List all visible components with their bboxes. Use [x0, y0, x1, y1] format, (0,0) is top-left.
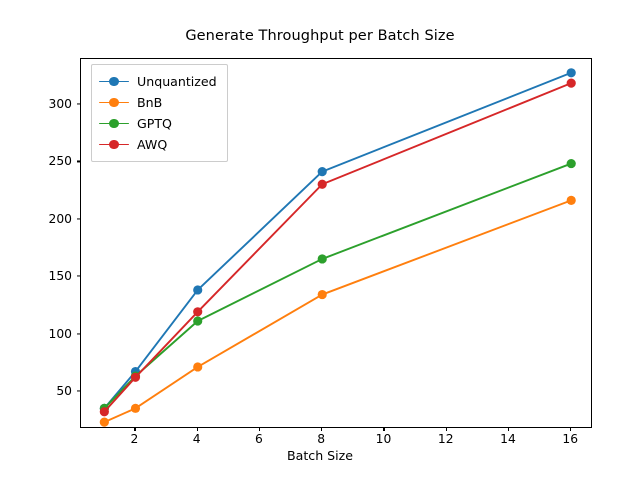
legend-swatch-icon [99, 138, 129, 152]
chart-title: Generate Throughput per Batch Size [0, 28, 640, 44]
x-tick-mark [259, 427, 260, 431]
data-point [100, 418, 109, 427]
data-point [318, 180, 327, 189]
x-tick-mark [134, 427, 135, 431]
x-tick-label: 8 [301, 432, 341, 446]
data-point [193, 285, 202, 294]
series-line [104, 164, 571, 409]
x-tick-label: 4 [177, 432, 217, 446]
legend-item-awq[interactable]: AWQ [99, 134, 217, 155]
series-gptq [100, 159, 576, 413]
data-point [318, 254, 327, 263]
data-point [567, 79, 576, 88]
legend-swatch-icon [99, 75, 129, 89]
series-line [104, 200, 571, 422]
legend-swatch-icon [99, 117, 129, 131]
data-point [567, 196, 576, 205]
y-tick-label: 250 [22, 154, 72, 168]
y-tick-label: 300 [22, 97, 72, 111]
legend-label: BnB [137, 95, 162, 110]
legend-marker-icon [109, 98, 119, 108]
x-tick-label: 14 [488, 432, 528, 446]
y-tick-label: 200 [22, 212, 72, 226]
legend-item-bnb[interactable]: BnB [99, 92, 217, 113]
chart-figure: Generate Throughput per Batch Size 50100… [0, 0, 640, 480]
legend-swatch-icon [99, 96, 129, 110]
legend-marker-icon [109, 77, 119, 87]
y-tick-mark [77, 333, 81, 334]
y-tick-label: 50 [22, 384, 72, 398]
x-tick-label: 2 [114, 432, 154, 446]
x-tick-mark [383, 427, 384, 431]
y-tick-mark [77, 103, 81, 104]
data-point [193, 316, 202, 325]
x-axis-label: Batch Size [0, 448, 640, 463]
x-tick-label: 10 [363, 432, 403, 446]
data-point [193, 362, 202, 371]
data-point [567, 68, 576, 77]
y-tick-mark [77, 276, 81, 277]
y-tick-mark [77, 391, 81, 392]
data-point [318, 290, 327, 299]
y-tick-label: 100 [22, 327, 72, 341]
x-tick-label: 16 [550, 432, 590, 446]
y-tick-mark [77, 161, 81, 162]
legend-label: AWQ [137, 137, 167, 152]
legend-label: Unquantized [137, 74, 217, 89]
x-tick-mark [446, 427, 447, 431]
legend-item-unquantized[interactable]: Unquantized [99, 71, 217, 92]
x-tick-mark [570, 427, 571, 431]
data-point [567, 159, 576, 168]
x-tick-mark [197, 427, 198, 431]
x-tick-mark [508, 427, 509, 431]
series-bnb [100, 196, 576, 427]
legend-marker-icon [109, 140, 119, 150]
data-point [131, 404, 140, 413]
data-point [193, 307, 202, 316]
data-point [100, 407, 109, 416]
x-tick-mark [321, 427, 322, 431]
data-point [131, 373, 140, 382]
x-tick-label: 6 [239, 432, 279, 446]
y-tick-mark [77, 218, 81, 219]
chart-legend: UnquantizedBnBGPTQAWQ [91, 64, 228, 162]
legend-item-gptq[interactable]: GPTQ [99, 113, 217, 134]
x-tick-label: 12 [426, 432, 466, 446]
y-tick-label: 150 [22, 269, 72, 283]
legend-marker-icon [109, 119, 119, 129]
data-point [318, 167, 327, 176]
legend-label: GPTQ [137, 116, 172, 131]
